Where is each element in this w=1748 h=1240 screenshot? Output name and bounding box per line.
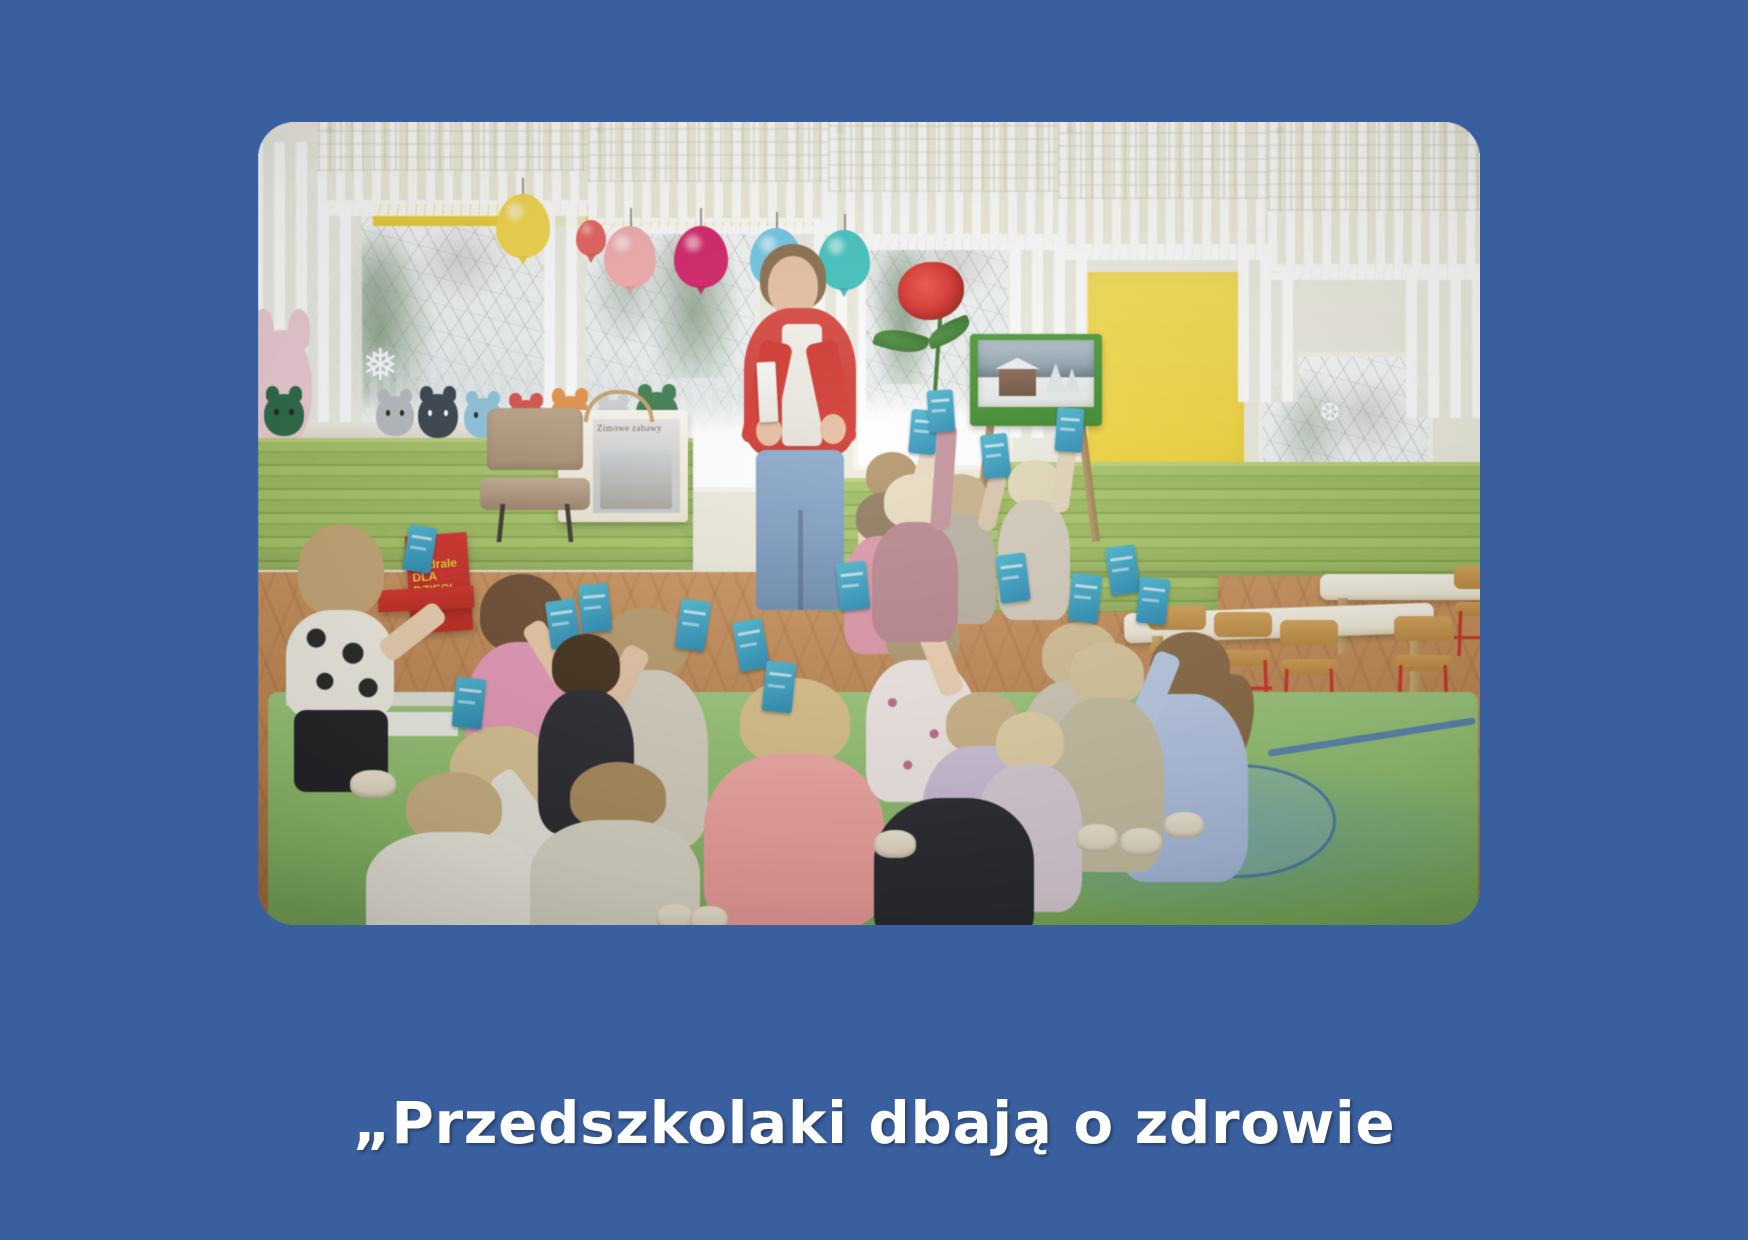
card-raised-8 (836, 561, 871, 612)
child-dark-front-right (874, 798, 1034, 925)
card-raised-13 (1136, 577, 1171, 626)
balloon-red-small (576, 220, 606, 256)
card-raised-3 (451, 677, 486, 730)
card-raised-12 (1105, 544, 1141, 596)
caption-line-1: „Przedszkolaki dbają o zdrowie (0, 1086, 1748, 1160)
teacher-head (768, 256, 818, 316)
classroom-photo: ❅ (258, 122, 1480, 925)
card-raised-4 (578, 583, 612, 633)
lace-valance-4 (1058, 122, 1288, 248)
poster-caption: „Przedszkolaki dbają o zdrowie – aktywni… (0, 938, 1748, 1240)
plush-toy-penguin (418, 394, 458, 438)
photo-frame: ❅ (258, 122, 1480, 925)
child-pink-hoodie-front (704, 678, 884, 925)
shoe-front-6 (1164, 812, 1204, 838)
lace-valance-3 (828, 122, 1068, 238)
child-beige-front-left (366, 772, 538, 925)
child-arm-up-striped (872, 452, 958, 642)
carpet-path (1267, 717, 1476, 757)
teacher-jeans-split (798, 510, 803, 610)
child-star-shirt-top (286, 610, 394, 718)
lace-valance-2 (588, 122, 848, 222)
book-title: Zimowe zabawy (597, 423, 675, 433)
shoe-front-1 (656, 904, 694, 925)
easel-picture-winter (978, 340, 1094, 406)
lace-valance-5 (1268, 122, 1480, 268)
teacher-white-card (756, 362, 778, 423)
plush-toy-green (264, 394, 304, 436)
card-raised-7 (761, 661, 796, 714)
child-star-shirt (280, 524, 398, 792)
plush-toy-grey (376, 396, 414, 436)
teacher-hand-right (820, 414, 846, 444)
shoe-front-4 (1076, 824, 1118, 852)
balloon-magenta (674, 226, 728, 288)
card-raised-11 (1068, 573, 1103, 624)
poster-canvas: ❅ (0, 0, 1748, 1240)
card-raised-10 (995, 552, 1031, 603)
shoe-front-5 (1120, 828, 1162, 856)
chair-brown (480, 408, 590, 542)
balloon-yellow (496, 194, 550, 258)
shoe-front-2 (690, 906, 728, 925)
chair-red-5 (1454, 566, 1480, 656)
lace-valance-left (318, 122, 618, 204)
shoe-front-3 (874, 830, 916, 858)
balloon-pink (604, 226, 656, 288)
child-sweater-front-mid (530, 762, 700, 925)
